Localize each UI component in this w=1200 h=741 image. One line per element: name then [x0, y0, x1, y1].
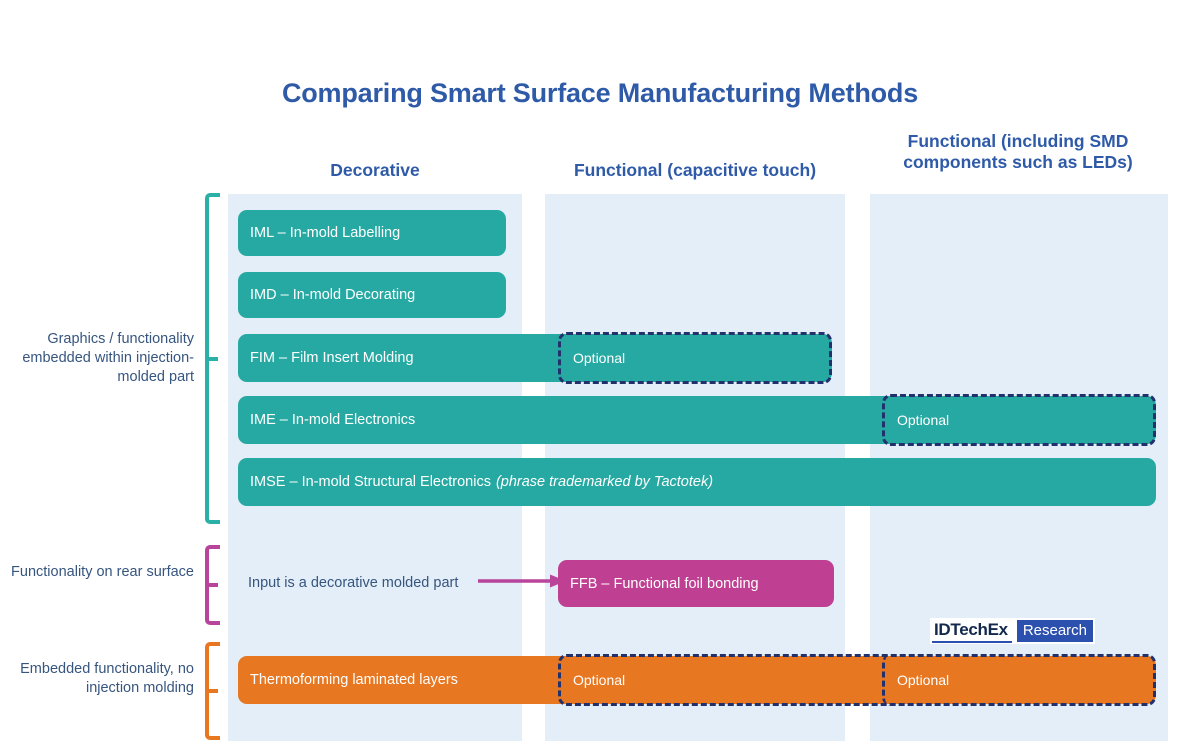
- diagram-canvas: Comparing Smart Surface Manufacturing Me…: [0, 0, 1200, 741]
- logo-wordmark: IDTechEx: [932, 619, 1012, 643]
- page-title: Comparing Smart Surface Manufacturing Me…: [0, 78, 1200, 109]
- group-label-embedded-injection: Graphics / functionality embedded within…: [8, 330, 194, 387]
- bar-label-thermoforming: Thermoforming laminated layers: [250, 672, 458, 688]
- bar-ffb[interactable]: FFB – Functional foil bonding: [558, 560, 834, 607]
- column-header-functional-smd: Functional (including SMD components suc…: [862, 131, 1174, 174]
- bar-label-ffb: FFB – Functional foil bonding: [570, 576, 759, 592]
- optional-label-ime: Optional: [897, 412, 949, 428]
- optional-box-ime-smd[interactable]: Optional: [882, 394, 1156, 446]
- bar-label-fim: FIM – Film Insert Molding: [250, 350, 414, 366]
- column-header-decorative: Decorative: [228, 160, 522, 181]
- bar-iml[interactable]: IML – In-mold Labelling: [238, 210, 506, 256]
- bar-imse[interactable]: IMSE – In-mold Structural Electronics (p…: [238, 458, 1156, 506]
- group-bracket-rear-surface: [205, 545, 220, 625]
- logo-research-badge: Research: [1017, 620, 1093, 643]
- group-label-no-injection: Embedded functionality, no injection mol…: [8, 660, 194, 698]
- annotation-ffb-input: Input is a decorative molded part: [248, 575, 458, 591]
- bar-label-ime: IME – In-mold Electronics: [250, 412, 415, 428]
- column-header-functional-capacitive: Functional (capacitive touch): [545, 160, 845, 181]
- idtechex-logo: IDTechEx Research: [930, 618, 1095, 644]
- bar-note-imse: (phrase trademarked by Tactotek): [496, 474, 713, 490]
- optional-label-thermo-col3: Optional: [897, 672, 949, 688]
- bar-imd[interactable]: IMD – In-mold Decorating: [238, 272, 506, 318]
- group-bracket-no-injection: [205, 642, 220, 740]
- optional-label-thermo-col2: Optional: [573, 672, 625, 688]
- optional-box-fim-capacitive[interactable]: Optional: [558, 332, 832, 384]
- bar-label-imse: IMSE – In-mold Structural Electronics: [250, 474, 491, 490]
- optional-box-thermoforming-smd[interactable]: Optional: [882, 654, 1156, 706]
- group-label-rear-surface: Functionality on rear surface: [8, 563, 194, 582]
- group-bracket-embedded-injection: [205, 193, 220, 524]
- bar-label-imd: IMD – In-mold Decorating: [250, 287, 415, 303]
- bar-label-iml: IML – In-mold Labelling: [250, 225, 400, 241]
- optional-label-fim: Optional: [573, 350, 625, 366]
- arrow-icon: [478, 572, 568, 590]
